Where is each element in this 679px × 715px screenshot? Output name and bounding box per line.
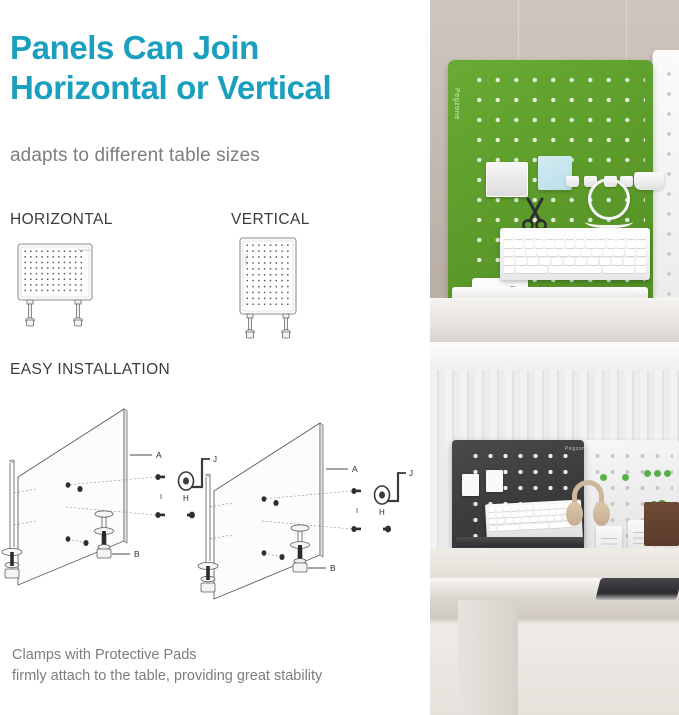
- shelf: [456, 537, 584, 547]
- callout-H-left: H: [183, 494, 189, 503]
- horizontal-section-label: HORIZONTAL: [10, 211, 113, 229]
- svg-text:Pegzone: Pegzone: [245, 254, 249, 266]
- desk-surface: [430, 298, 679, 342]
- headphones: [566, 480, 610, 536]
- bottom-caption: Clamps with Protective Pads firmly attac…: [12, 645, 427, 687]
- vertical-panel-diagram: Pegzone: [228, 234, 312, 342]
- vertical-section-label: VERTICAL: [231, 211, 310, 229]
- exploded-view-svg: A J H I B A J H I B: [0, 385, 430, 620]
- keyboard: [500, 228, 650, 280]
- cable-ends: [585, 212, 633, 228]
- laptop: [595, 578, 679, 600]
- key-row: [504, 241, 646, 248]
- callout-J-right: J: [409, 469, 413, 478]
- green-peg: [644, 470, 651, 477]
- desk-leg: [458, 600, 518, 715]
- callout-B-right: B: [330, 563, 336, 573]
- photo-frame-accessory: [486, 162, 528, 197]
- hook-accessory: [566, 176, 579, 187]
- green-peg: [664, 470, 671, 477]
- subtitle: adapts to different table sizes: [10, 145, 260, 167]
- scissors-icon: [520, 197, 550, 231]
- right-photo-column: Pegzone: [430, 0, 679, 715]
- horizontal-panel-diagram: Pegzone: [14, 240, 98, 340]
- green-peg: [654, 470, 661, 477]
- callout-B-left: B: [134, 549, 140, 559]
- headline-line-2: Horizontal or Vertical: [10, 68, 420, 108]
- brand-logo: Pegzone: [565, 446, 589, 452]
- callout-I-right: I: [356, 506, 358, 515]
- brand-logo: Pegzone: [453, 88, 460, 120]
- installation-diagrams: A J H I B A J H I B: [0, 385, 430, 620]
- green-pegboard: Pegzone: [448, 60, 653, 303]
- callout-H-right: H: [379, 508, 385, 517]
- callout-I-left: I: [160, 492, 162, 501]
- photo-green-pegboard-setup: Pegzone: [430, 0, 679, 342]
- photo-dark-white-pegboard-setup: Pegzone: [430, 342, 679, 715]
- photo-card: [462, 474, 479, 496]
- product-infographic: Panels Can Join Horizontal or Vertical a…: [0, 0, 679, 715]
- callout-A-left: A: [156, 450, 162, 460]
- svg-text:Pegzone: Pegzone: [78, 248, 90, 252]
- callout-A-right: A: [352, 464, 358, 474]
- book: [644, 502, 679, 546]
- page-title: Panels Can Join Horizontal or Vertical: [10, 28, 420, 109]
- callout-J-left: J: [213, 455, 217, 464]
- photo-card: [486, 470, 503, 492]
- caption-line-2: firmly attach to the table, providing gr…: [12, 666, 427, 687]
- green-peg: [622, 474, 629, 481]
- left-info-column: Panels Can Join Horizontal or Vertical a…: [0, 0, 430, 715]
- key-row: [504, 232, 646, 239]
- headline-line-1: Panels Can Join: [10, 29, 259, 66]
- key-row: [504, 258, 646, 265]
- large-hook-accessory: [634, 172, 664, 190]
- key-row: [504, 266, 646, 273]
- ceiling-strip: [430, 342, 679, 370]
- caption-line-1: Clamps with Protective Pads: [12, 647, 197, 663]
- key-row: [504, 249, 646, 256]
- installation-section-label: EASY INSTALLATION: [10, 361, 170, 379]
